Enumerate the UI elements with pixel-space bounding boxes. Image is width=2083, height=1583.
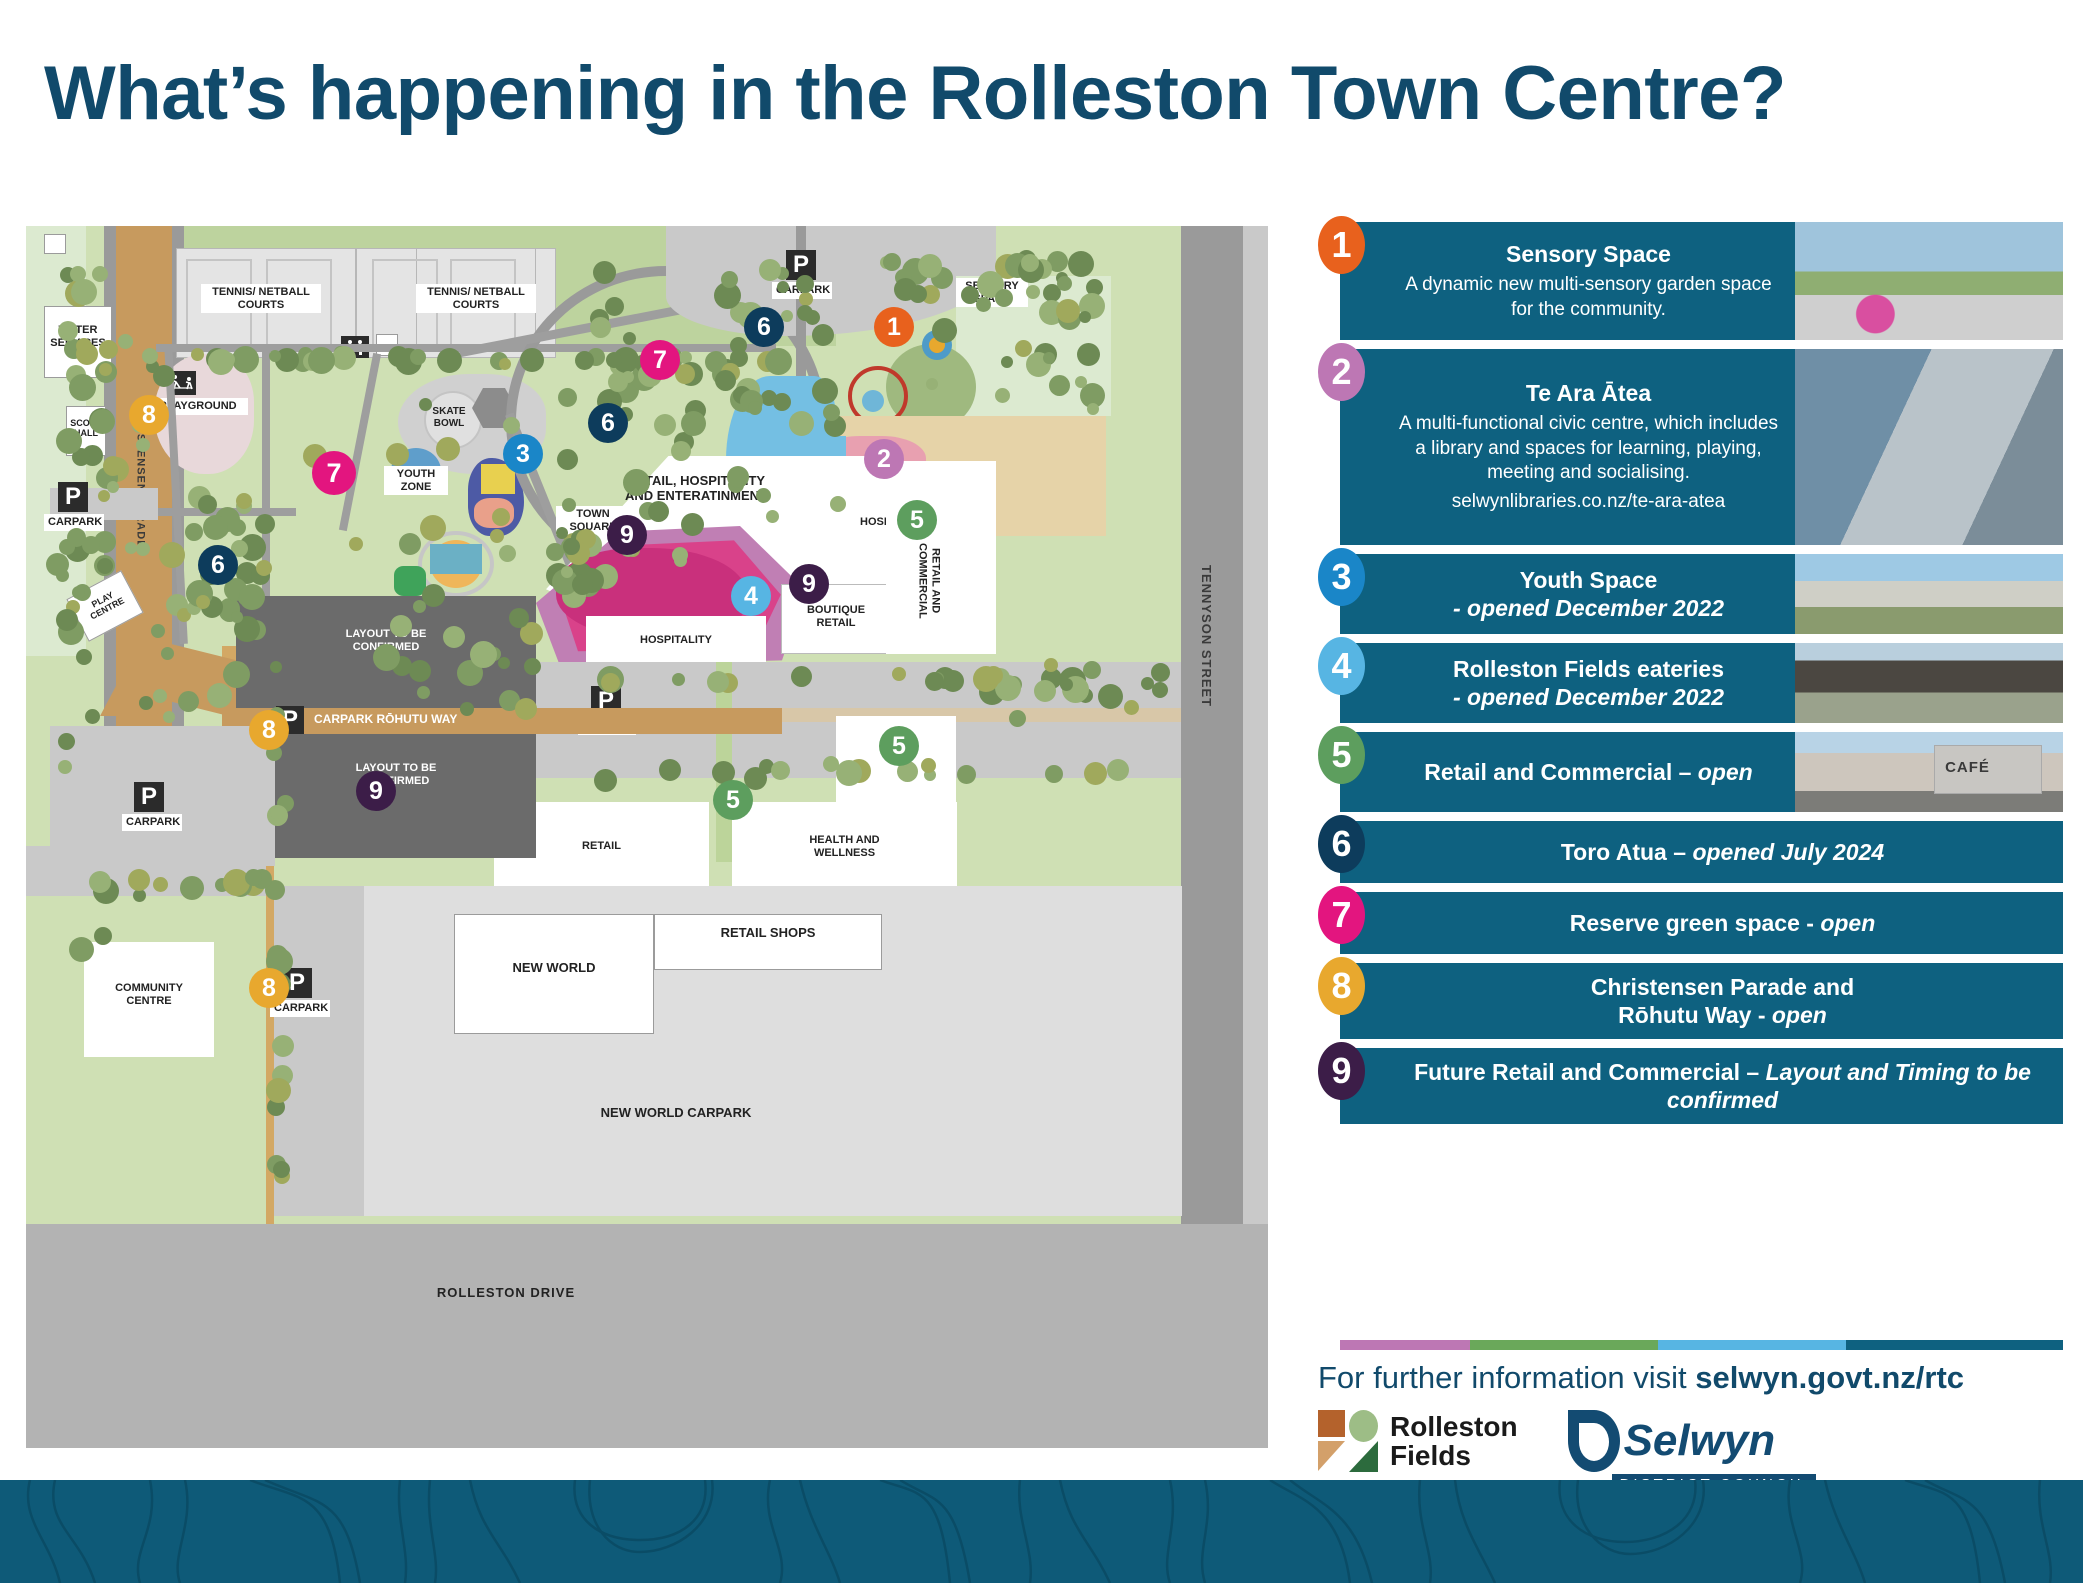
- legend-title-plain: Te Ara Ātea: [1526, 380, 1651, 406]
- map-marker-9[interactable]: 9: [607, 515, 647, 555]
- community-centre-label: COMMUNITY CENTRE: [84, 982, 214, 1007]
- legend-item-5[interactable]: 5Retail and Commercial – openCAFÉ: [1318, 732, 2063, 812]
- legend-title-italic: open: [1820, 910, 1875, 936]
- legend-item-8[interactable]: 8Christensen Parade and Rōhutu Way - ope…: [1318, 963, 2063, 1039]
- legend-badge-3: 3: [1318, 548, 1365, 606]
- sensory-space-photo-image: [1795, 222, 2063, 340]
- selwyn-wordmark: Selwyn: [1624, 1420, 1776, 1462]
- youth-space-photo-image: [1795, 554, 2063, 634]
- small-building-nw: [44, 234, 66, 254]
- legend-badge-number: 7: [1331, 894, 1351, 936]
- cafe-sign-text: CAFÉ: [1945, 759, 1990, 776]
- legend-badge-9: 9: [1318, 1042, 1365, 1100]
- map-marker-number: 9: [620, 521, 634, 550]
- map-marker-number: 9: [369, 777, 383, 806]
- legend-title-plain: Future Retail and Commercial –: [1414, 1059, 1765, 1085]
- map-marker-number: 4: [744, 582, 758, 611]
- legend-badge-number: 1: [1331, 224, 1351, 266]
- parking-icon-west1: P: [58, 482, 88, 512]
- rf-line1: Rolleston: [1390, 1412, 1518, 1441]
- map-marker-number: 5: [726, 786, 740, 815]
- legend-title-italic: opened July 2024: [1692, 839, 1884, 865]
- legend-thumbnail-1: [1795, 222, 2063, 340]
- map-marker-4[interactable]: 4: [731, 576, 771, 616]
- legend-bar: Sensory SpaceA dynamic new multi-sensory…: [1340, 222, 2063, 340]
- legend-title-plain: Sensory Space: [1506, 241, 1671, 267]
- legend-title-italic: open: [1698, 759, 1753, 785]
- legend-title-plain: Retail and Commercial –: [1424, 759, 1698, 785]
- legend-thumbnail-3: [1795, 554, 2063, 634]
- legend-item-3[interactable]: 3Youth Space- opened December 2022: [1318, 554, 2063, 634]
- play-structure-4: [394, 566, 426, 596]
- legend-badge-1: 1: [1318, 216, 1365, 274]
- layout-tbc-2-label: LAYOUT TO BE CONFIRMED: [276, 762, 516, 787]
- map-marker-number: 7: [653, 346, 667, 375]
- legend-bar: Future Retail and Commercial – Layout an…: [1340, 1048, 2063, 1124]
- map-marker-9[interactable]: 9: [356, 771, 396, 811]
- legend-badge-number: 3: [1331, 556, 1351, 598]
- legend-thumbnail-4: [1795, 643, 2063, 723]
- tennis-courts-1-label: TENNIS/ NETBALL COURTS: [201, 284, 321, 313]
- decorative-bottom-band: [0, 1480, 2083, 1583]
- legend-item-4[interactable]: 4Rolleston Fields eateries- opened Decem…: [1318, 643, 2063, 723]
- legend-badge-number: 5: [1331, 734, 1351, 776]
- legend-bar: Te Ara ĀteaA multi-functional civic cent…: [1340, 349, 2063, 545]
- map-marker-7[interactable]: 7: [312, 451, 356, 495]
- boutique-retail-label: BOUTIQUE RETAIL: [781, 604, 891, 629]
- map-marker-number: 7: [326, 458, 341, 489]
- rf-line2: Fields: [1390, 1441, 1518, 1470]
- title-plain: What’s happening in the: [44, 51, 929, 136]
- legend-bar: Toro Atua – opened July 2024: [1340, 821, 2063, 883]
- legend-thumbnail-2: [1795, 349, 2063, 545]
- legend-title-plain: Youth Space: [1520, 567, 1658, 593]
- legend-badge-2: 2: [1318, 343, 1365, 401]
- legend-title: Retail and Commercial – open: [1424, 758, 1753, 786]
- parking-icon-west2: P: [134, 782, 164, 812]
- legend-badge-number: 2: [1331, 351, 1351, 393]
- legend-title-italic: - opened December 2022: [1453, 684, 1724, 710]
- rolleston-drive-band: [26, 1224, 1268, 1448]
- legend-badge-number: 4: [1331, 645, 1351, 687]
- brand-colorbar: [1340, 1340, 2063, 1350]
- band-pattern-icon: [0, 1480, 2083, 1583]
- infographic-page: What’s happening in the Rolleston Town C…: [0, 0, 2083, 1583]
- rolleston-drive-label: ROLLESTON DRIVE: [356, 1286, 656, 1301]
- map-marker-number: 2: [877, 445, 891, 474]
- legend-description: A dynamic new multi-sensory garden space…: [1394, 273, 1783, 322]
- legend-text: Youth Space- opened December 2022: [1340, 554, 1795, 634]
- legend-title: Youth Space- opened December 2022: [1453, 566, 1724, 622]
- legend-text: Future Retail and Commercial – Layout an…: [1340, 1048, 2063, 1124]
- map-marker-2[interactable]: 2: [864, 439, 904, 479]
- legend-bar: Reserve green space - open: [1340, 892, 2063, 954]
- site-map[interactable]: TENNIS/ NETBALL COURTS TENNIS/ NETBALL C…: [26, 226, 1268, 1448]
- legend-text: Rolleston Fields eateries- opened Decemb…: [1340, 643, 1795, 723]
- map-marker-number: 6: [601, 409, 615, 438]
- map-marker-8[interactable]: 8: [249, 968, 289, 1008]
- map-marker-7[interactable]: 7: [640, 340, 680, 380]
- map-marker-8[interactable]: 8: [249, 710, 289, 750]
- map-marker-5[interactable]: 5: [879, 726, 919, 766]
- map-marker-6[interactable]: 6: [744, 307, 784, 347]
- legend-title: Toro Atua – opened July 2024: [1561, 838, 1884, 866]
- retail-commercial-vertical-label: RETAIL AND COMMERCIAL: [916, 526, 941, 636]
- tennyson-street-label: TENNYSON STREET: [1198, 526, 1213, 746]
- legend-title: Future Retail and Commercial – Layout an…: [1394, 1058, 2051, 1114]
- tennis-courts-2-label: TENNIS/ NETBALL COURTS: [416, 284, 536, 313]
- legend-title: Reserve green space - open: [1570, 909, 1876, 937]
- new-world-label: NEW WORLD: [454, 961, 654, 976]
- legend-badge-number: 9: [1331, 1050, 1351, 1092]
- map-marker-number: 8: [262, 716, 276, 745]
- legend-item-7[interactable]: 7Reserve green space - open: [1318, 892, 2063, 954]
- rolleston-fields-mark-icon: [1318, 1410, 1380, 1472]
- map-marker-number: 8: [262, 974, 276, 1003]
- legend-text: Reserve green space - open: [1340, 892, 2063, 954]
- legend-thumbnail-5: CAFÉ: [1795, 732, 2063, 812]
- map-marker-number: 6: [757, 313, 771, 342]
- further-info-text: For further information visit selwyn.gov…: [1318, 1360, 2078, 1396]
- legend-bar: Christensen Parade and Rōhutu Way - open: [1340, 963, 2063, 1039]
- map-marker-number: 5: [892, 732, 906, 761]
- map-marker-1[interactable]: 1: [874, 307, 914, 347]
- rolleston-fields-logo: Rolleston Fields: [1318, 1410, 1518, 1472]
- legend-text: Christensen Parade and Rōhutu Way - open: [1340, 963, 2063, 1039]
- legend-title-plain: Toro Atua –: [1561, 839, 1693, 865]
- map-marker-3[interactable]: 3: [503, 434, 543, 474]
- legend-url[interactable]: selwynlibraries.co.nz/te-ara-atea: [1452, 490, 1726, 514]
- legend-title: Te Ara Ātea: [1526, 379, 1651, 407]
- map-marker-number: 6: [211, 551, 225, 580]
- legend-badge-5: 5: [1318, 726, 1365, 784]
- new-world-carpark-label: NEW WORLD CARPARK: [526, 1106, 826, 1121]
- map-marker-6[interactable]: 6: [588, 403, 628, 443]
- further-info-url[interactable]: selwyn.govt.nz/rtc: [1695, 1360, 1964, 1395]
- map-marker-5[interactable]: 5: [713, 780, 753, 820]
- legend-bar: Rolleston Fields eateries- opened Decemb…: [1340, 643, 2063, 723]
- legend-badge-6: 6: [1318, 815, 1365, 873]
- legend-title-plain: Rolleston Fields eateries: [1453, 656, 1724, 682]
- legend-item-2[interactable]: 2Te Ara ĀteaA multi-functional civic cen…: [1318, 349, 2063, 545]
- te-ara-atea-photo-image: [1795, 349, 2063, 545]
- retail-shops-building: [654, 914, 882, 970]
- map-marker-9[interactable]: 9: [789, 564, 829, 604]
- legend-item-9[interactable]: 9Future Retail and Commercial – Layout a…: [1318, 1048, 2063, 1124]
- legend-text: Te Ara ĀteaA multi-functional civic cent…: [1340, 349, 1795, 545]
- legend-item-6[interactable]: 6Toro Atua – opened July 2024: [1318, 821, 2063, 883]
- map-marker-number: 5: [910, 506, 924, 535]
- map-marker-number: 3: [516, 440, 530, 469]
- legend-badge-8: 8: [1318, 957, 1365, 1015]
- legend-badge-number: 6: [1331, 823, 1351, 865]
- rolleston-fields-eateries-photo-image: [1795, 643, 2063, 723]
- legend-bar: Youth Space- opened December 2022: [1340, 554, 2063, 634]
- colorbar-segment-4: [1846, 1340, 2063, 1350]
- map-marker-6[interactable]: 6: [198, 545, 238, 585]
- selwyn-droplet-icon: [1568, 1410, 1620, 1472]
- rolleston-fields-wordmark: Rolleston Fields: [1390, 1412, 1518, 1471]
- legend-title-italic: - opened December 2022: [1453, 595, 1724, 621]
- health-wellness-label: HEALTH AND WELLNESS: [732, 834, 957, 859]
- map-marker-8[interactable]: 8: [129, 395, 169, 435]
- legend-description: A multi-functional civic centre, which i…: [1394, 412, 1783, 485]
- legend-bar: Retail and Commercial – openCAFÉ: [1340, 732, 2063, 812]
- legend-badge-4: 4: [1318, 637, 1365, 695]
- map-marker-number: 9: [802, 570, 816, 599]
- colorbar-segment-3: [1658, 1340, 1846, 1350]
- legend-text: Toro Atua – opened July 2024: [1340, 821, 2063, 883]
- legend-text: Sensory SpaceA dynamic new multi-sensory…: [1340, 222, 1795, 340]
- legend-item-1[interactable]: 1Sensory SpaceA dynamic new multi-sensor…: [1318, 222, 2063, 340]
- title-suffix: ?: [1740, 51, 1786, 136]
- legend-title: Sensory Space: [1506, 240, 1671, 268]
- retail-hosp-ent-label: RETAIL, HOSPITALITY AND ENTERATINMENT: [586, 474, 806, 504]
- carpark-west2-label: CARPARK: [122, 814, 182, 831]
- legend-text: Retail and Commercial – open: [1340, 732, 1795, 812]
- legend-title: Christensen Parade and Rōhutu Way - open: [1591, 973, 1854, 1029]
- hospitality-1-label: HOSPITALITY: [586, 634, 766, 647]
- retail-shops-label: RETAIL SHOPS: [654, 926, 882, 941]
- legend-title: Rolleston Fields eateries- opened Decemb…: [1453, 655, 1724, 711]
- further-info-plain: For further information visit: [1318, 1360, 1695, 1395]
- legend-title-italic: open: [1772, 1002, 1827, 1028]
- map-marker-5[interactable]: 5: [897, 500, 937, 540]
- page-title: What’s happening in the Rolleston Town C…: [44, 56, 1786, 132]
- colorbar-segment-2: [1470, 1340, 1658, 1350]
- legend-badge-number: 8: [1331, 965, 1351, 1007]
- youth-zone-label: YOUTH ZONE: [384, 466, 448, 495]
- legend-title-plain: Reserve green space -: [1570, 910, 1821, 936]
- title-bold: Rolleston Town Centre: [929, 51, 1740, 136]
- map-marker-number: 1: [887, 313, 901, 342]
- play-structure-3b: [430, 544, 482, 574]
- colorbar-segment-1: [1340, 1340, 1470, 1350]
- legend-panel: 1Sensory SpaceA dynamic new multi-sensor…: [1318, 222, 2063, 1133]
- map-marker-number: 8: [142, 401, 156, 430]
- legend-badge-7: 7: [1318, 886, 1365, 944]
